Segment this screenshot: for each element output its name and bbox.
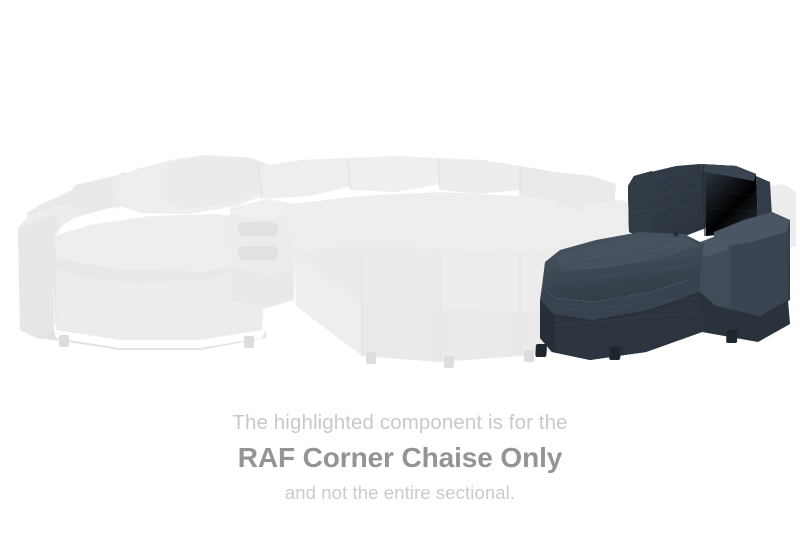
caption-line-top: The highlighted component is for the: [0, 408, 800, 438]
caption-line-bottom: and not the entire sectional.: [0, 479, 800, 507]
caption-component-name: RAF Corner Chaise Only: [0, 439, 800, 477]
caption-block: The highlighted component is for the RAF…: [0, 408, 800, 507]
product-highlight-page: The highlighted component is for the RAF…: [0, 0, 800, 533]
ghost-component-console: [230, 199, 294, 308]
product-illustration: [0, 0, 800, 400]
